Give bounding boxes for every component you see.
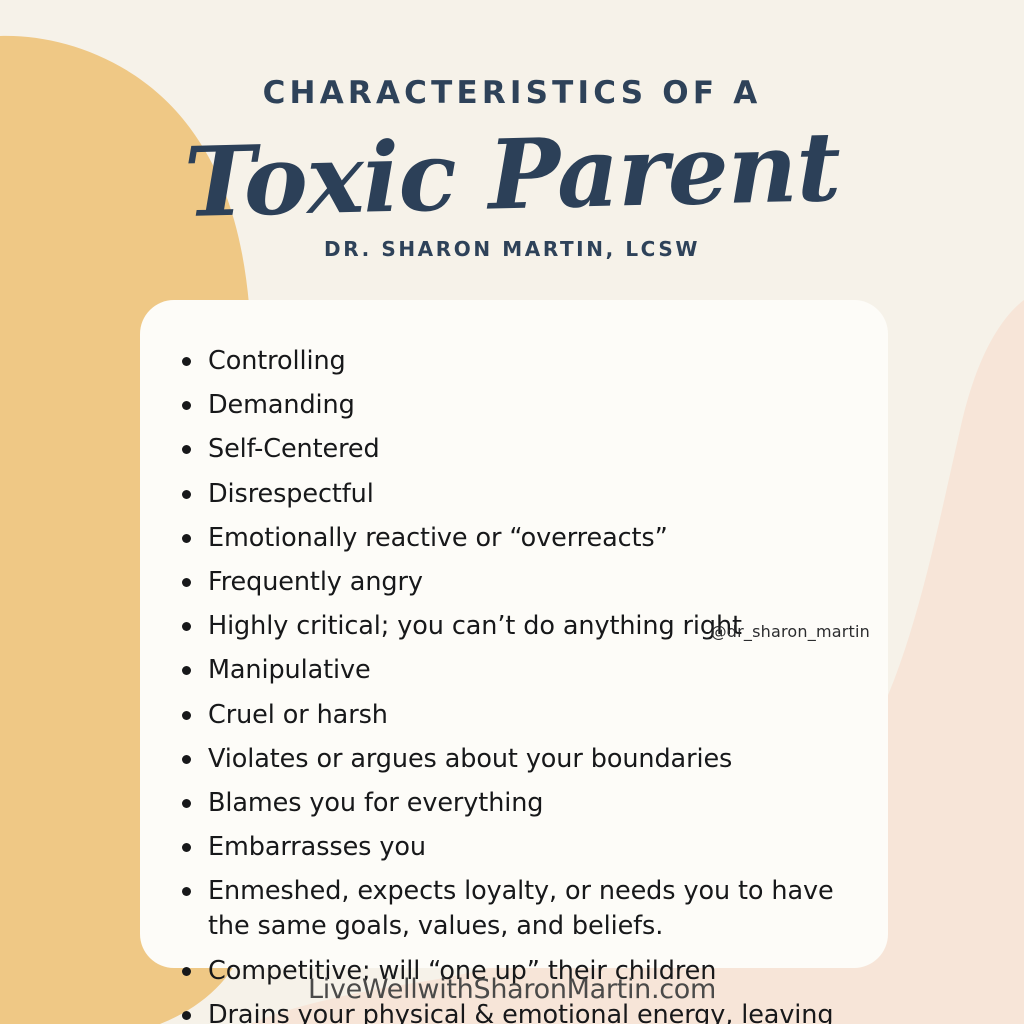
characteristics-list: Controlling Demanding Self-Centered Disr… <box>182 344 862 1024</box>
list-item: Cruel or harsh <box>182 698 862 733</box>
footer-website: LiveWellwithSharonMartin.com <box>0 974 1024 1005</box>
list-item: Disrespectful <box>182 477 862 512</box>
list-item: Enmeshed, expects loyalty, or needs you … <box>182 874 862 944</box>
author-byline: DR. SHARON MARTIN, LCSW <box>0 239 1024 259</box>
list-item: Blames you for everything <box>182 786 862 821</box>
list-item: Self-Centered <box>182 432 862 467</box>
content-card: Controlling Demanding Self-Centered Disr… <box>140 300 888 968</box>
list-item: Manipulative <box>182 653 862 688</box>
page-title: Toxic Parent <box>0 111 1024 240</box>
list-item: Controlling <box>182 344 862 379</box>
list-item: Frequently angry <box>182 565 862 600</box>
list-item: Emotionally reactive or “overreacts” <box>182 521 862 556</box>
social-handle-watermark: @dr_sharon_martin <box>711 622 870 641</box>
list-item: Violates or argues about your boundaries <box>182 742 862 777</box>
list-item: Embarrasses you <box>182 830 862 865</box>
header: CHARACTERISTICS OF A Toxic Parent DR. SH… <box>0 0 1024 259</box>
eyebrow-text: CHARACTERISTICS OF A <box>0 78 1024 109</box>
list-item: Demanding <box>182 388 862 423</box>
